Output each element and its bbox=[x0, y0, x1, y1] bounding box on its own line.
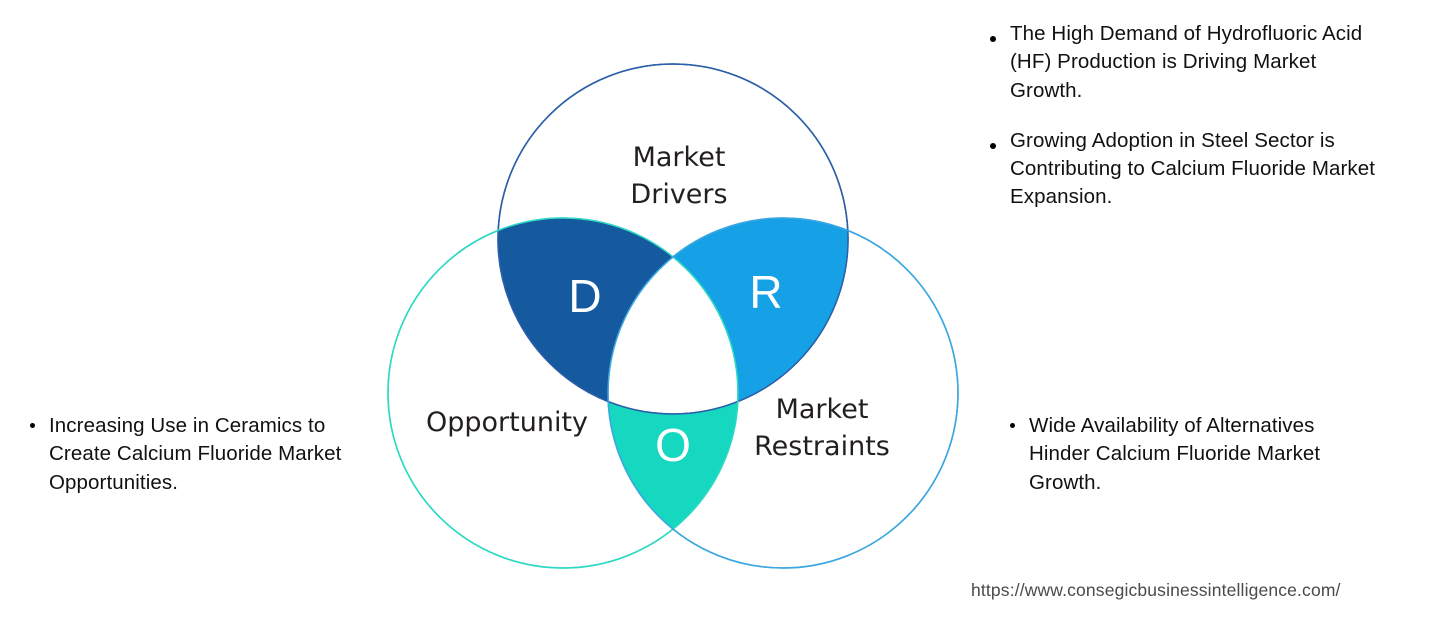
list-item: Increasing Use in Ceramics to Create Cal… bbox=[25, 412, 375, 497]
restraints-bullet-list: Wide Availability of Alternatives Hinder… bbox=[1005, 412, 1380, 497]
venn-overlap-opportunity-restraints bbox=[320, 0, 1030, 640]
venn-letter-d: D bbox=[568, 270, 601, 322]
venn-label-market-restraints-line1: Market bbox=[776, 394, 869, 425]
venn-label-market-drivers-line1: Market bbox=[633, 142, 726, 173]
venn-diagram: D R O Market Drivers Opportunity Market … bbox=[370, 45, 980, 590]
source-url[interactable]: https://www.consegicbusinessintelligence… bbox=[971, 580, 1341, 601]
venn-label-opportunity: Opportunity bbox=[426, 407, 588, 438]
list-item: The High Demand of Hydrofluoric Acid (HF… bbox=[986, 20, 1386, 105]
list-item: Growing Adoption in Steel Sector is Cont… bbox=[986, 127, 1386, 212]
opportunity-bullet-list: Increasing Use in Ceramics to Create Cal… bbox=[25, 412, 375, 497]
venn-letter-r: R bbox=[749, 266, 782, 318]
venn-label-market-drivers-line2: Drivers bbox=[630, 179, 727, 210]
venn-label-market-restraints-line2: Restraints bbox=[754, 431, 890, 462]
venn-label-market-restraints: Market Restraints bbox=[754, 394, 890, 462]
venn-label-market-drivers: Market Drivers bbox=[630, 142, 727, 210]
drivers-bullet-list: The High Demand of Hydrofluoric Acid (HF… bbox=[986, 20, 1386, 234]
list-item: Wide Availability of Alternatives Hinder… bbox=[1005, 412, 1380, 497]
venn-letter-o: O bbox=[655, 419, 691, 471]
